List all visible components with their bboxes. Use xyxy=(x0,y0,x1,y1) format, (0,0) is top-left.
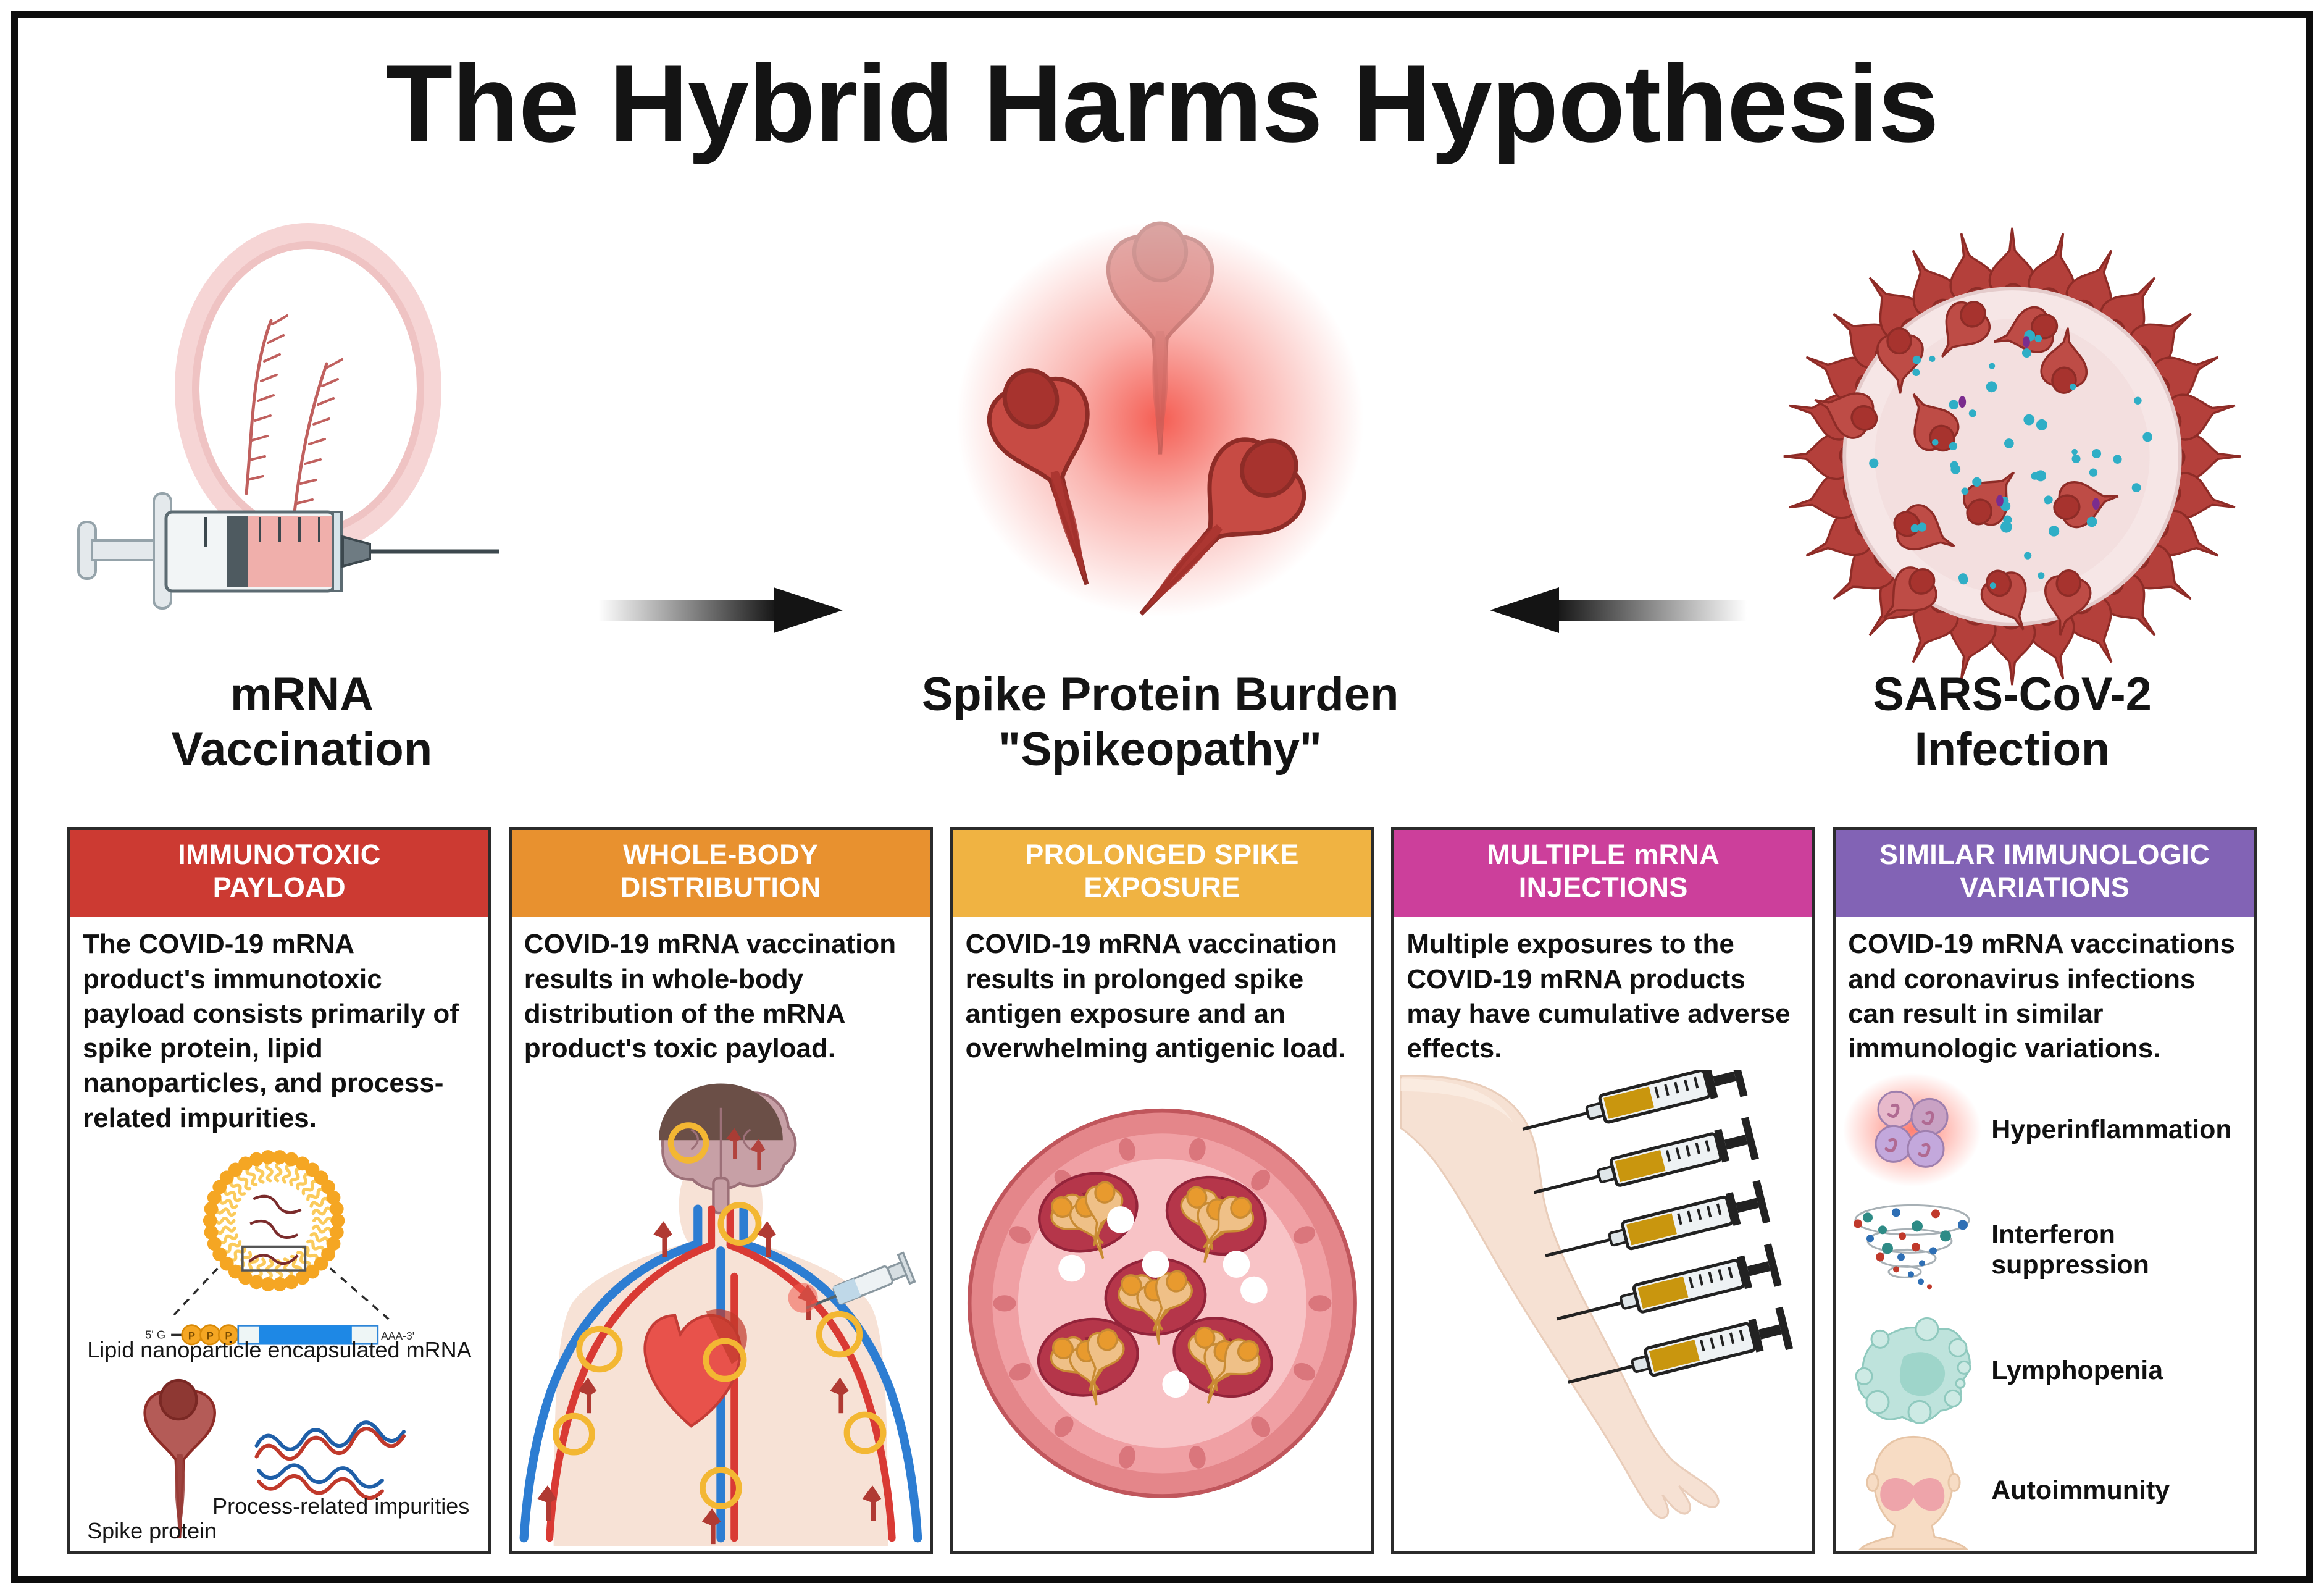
top-item-vaccination: mRNA Vaccination xyxy=(67,203,537,778)
card-body-similar-immunologic-variations: COVID-19 mRNA vaccinations and coronavir… xyxy=(1836,917,2254,1070)
card-art-whole-body-distribution xyxy=(512,1070,930,1551)
butterfly-rash-face-icon xyxy=(1843,1430,1985,1551)
card-whole-body-distribution[interactable]: WHOLE-BODY DISTRIBUTION COVID-19 mRNA va… xyxy=(509,827,933,1554)
spike-protein-burden-icon xyxy=(851,203,1469,648)
interferon-spiral-icon xyxy=(1843,1190,1985,1311)
card-body-prolonged-spike-exposure: COVID-19 mRNA vaccination results in pro… xyxy=(953,917,1371,1070)
card-header-similar-immunologic-variations: SIMILAR IMMUNOLOGIC VARIATIONS xyxy=(1833,827,2257,917)
list-item[interactable]: Lymphopenia xyxy=(1836,1311,2254,1431)
card-multiple-mrna-injections[interactable]: MULTIPLE mRNA INJECTIONS Multiple exposu… xyxy=(1391,827,1815,1554)
card-header-prolonged-spike-exposure: PROLONGED SPIKE EXPOSURE xyxy=(950,827,1374,917)
list-item[interactable]: Interferon suppression xyxy=(1836,1190,2254,1311)
list-item-label: Lymphopenia xyxy=(1991,1356,2163,1386)
caption-spike-protein: Spike protein xyxy=(87,1518,217,1544)
arrow-left-icon xyxy=(1475,586,1747,634)
syringe-mrna-icon xyxy=(67,203,537,648)
top-item-spike-burden-label: Spike Protein Burden "Spikeopathy" xyxy=(851,667,1469,778)
card-row: IMMUNOTOXIC PAYLOAD The COVID-19 mRNA pr… xyxy=(67,827,2257,1554)
top-row: mRNA Vaccination xyxy=(55,203,2269,778)
outer-frame: The Hybrid Harms Hypothesis xyxy=(11,11,2313,1583)
card-prolonged-spike-exposure[interactable]: PROLONGED SPIKE EXPOSURE COVID-19 mRNA v… xyxy=(950,827,1374,1554)
card-art-immunotoxic-payload: 5' G P P P AAA-3' xyxy=(70,1139,488,1551)
sars-cov-2-virion-icon xyxy=(1759,203,2265,648)
list-item-label: Interferon suppression xyxy=(1991,1220,2254,1280)
card-art-similar-immunologic-variations: Hyperinflammation xyxy=(1836,1070,2254,1551)
card-header-immunotoxic-payload: IMMUNOTOXIC PAYLOAD xyxy=(67,827,491,917)
list-item[interactable]: Autoimmunity xyxy=(1836,1430,2254,1551)
card-header-multiple-mrna-injections: MULTIPLE mRNA INJECTIONS xyxy=(1391,827,1815,917)
infographic-root: The Hybrid Harms Hypothesis xyxy=(0,0,2324,1594)
card-body-whole-body-distribution: COVID-19 mRNA vaccination results in who… xyxy=(512,917,930,1070)
card-body-multiple-mrna-injections: Multiple exposures to the COVID-19 mRNA … xyxy=(1394,917,1812,1070)
card-body-immunotoxic-payload: The COVID-19 mRNA product's immunotoxic … xyxy=(70,917,488,1139)
card-art-multiple-mrna-injections xyxy=(1394,1070,1812,1551)
caption-lnp: Lipid nanoparticle encapsulated mRNA xyxy=(70,1337,488,1363)
top-item-infection: SARS-CoV-2 Infection xyxy=(1759,203,2265,778)
top-item-infection-label: SARS-CoV-2 Infection xyxy=(1759,667,2265,778)
immunologic-variation-list: Hyperinflammation xyxy=(1836,1070,2254,1551)
lymphocyte-cell-icon xyxy=(1843,1311,1985,1431)
list-item[interactable]: Hyperinflammation xyxy=(1836,1070,2254,1190)
arrow-right-icon xyxy=(598,586,845,634)
card-header-whole-body-distribution: WHOLE-BODY DISTRIBUTION xyxy=(509,827,933,917)
top-item-spike-burden: Spike Protein Burden "Spikeopathy" xyxy=(851,203,1469,778)
page-title: The Hybrid Harms Hypothesis xyxy=(18,49,2306,159)
top-item-vaccination-label: mRNA Vaccination xyxy=(67,667,537,778)
card-immunotoxic-payload[interactable]: IMMUNOTOXIC PAYLOAD The COVID-19 mRNA pr… xyxy=(67,827,491,1554)
caption-process-impurities: Process-related impurities xyxy=(212,1493,469,1519)
list-item-label: Hyperinflammation xyxy=(1991,1115,2231,1145)
card-art-prolonged-spike-exposure xyxy=(953,1070,1371,1551)
list-item-label: Autoimmunity xyxy=(1991,1475,2170,1506)
card-similar-immunologic-variations[interactable]: SIMILAR IMMUNOLOGIC VARIATIONS COVID-19 … xyxy=(1833,827,2257,1554)
inflamed-leukocytes-icon xyxy=(1843,1070,1985,1190)
